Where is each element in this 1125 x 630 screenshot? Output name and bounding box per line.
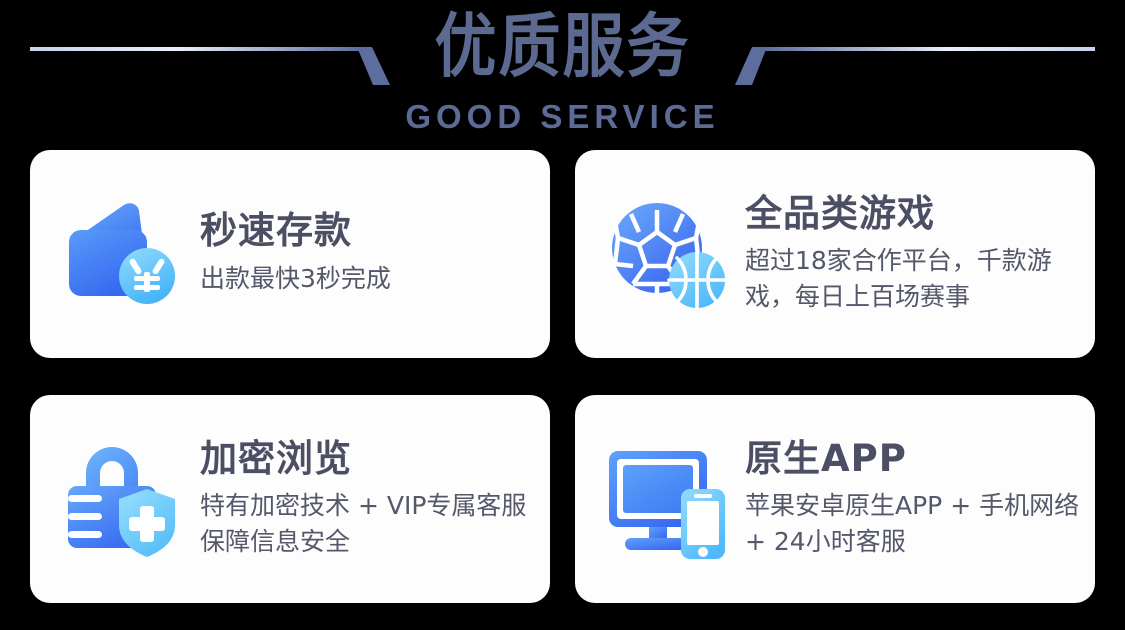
card-title: 原生APP [745,439,1081,480]
card-description: 苹果安卓原生APP + 手机网络 + 24小时客服 [745,488,1081,559]
page-title-en: GOOD SERVICE [0,100,1125,133]
lock-shield-icon [56,433,188,565]
card-title: 加密浏览 [200,439,536,480]
card-text-block: 加密浏览 特有加密技术 + VIP专属客服保障信息安全 [200,439,536,560]
service-card-grid: 秒速存款 出款最快3秒完成 [30,150,1095,603]
card-text-block: 全品类游戏 超过18家合作平台，千款游戏，每日上百场赛事 [745,194,1081,315]
service-card-native-app[interactable]: 原生APP 苹果安卓原生APP + 手机网络 + 24小时客服 [575,395,1095,603]
card-text-block: 秒速存款 出款最快3秒完成 [200,211,536,296]
card-description: 出款最快3秒完成 [200,261,536,297]
service-card-games[interactable]: 全品类游戏 超过18家合作平台，千款游戏，每日上百场赛事 [575,150,1095,358]
page-header: 优质服务 GOOD SERVICE [0,0,1125,150]
monitor-phone-icon [601,433,733,565]
card-title: 秒速存款 [200,211,536,252]
card-text-block: 原生APP 苹果安卓原生APP + 手机网络 + 24小时客服 [745,439,1081,560]
card-title: 全品类游戏 [745,194,1081,235]
header-title-block: 优质服务 GOOD SERVICE [0,0,1125,133]
soccer-basketball-icon [601,188,733,320]
service-card-encryption[interactable]: 加密浏览 特有加密技术 + VIP专属客服保障信息安全 [30,395,550,603]
card-description: 超过18家合作平台，千款游戏，每日上百场赛事 [745,243,1081,314]
wallet-coin-icon [56,188,188,320]
card-description: 特有加密技术 + VIP专属客服保障信息安全 [200,488,536,559]
page-title-cn: 优质服务 [0,12,1125,81]
service-card-deposit[interactable]: 秒速存款 出款最快3秒完成 [30,150,550,358]
